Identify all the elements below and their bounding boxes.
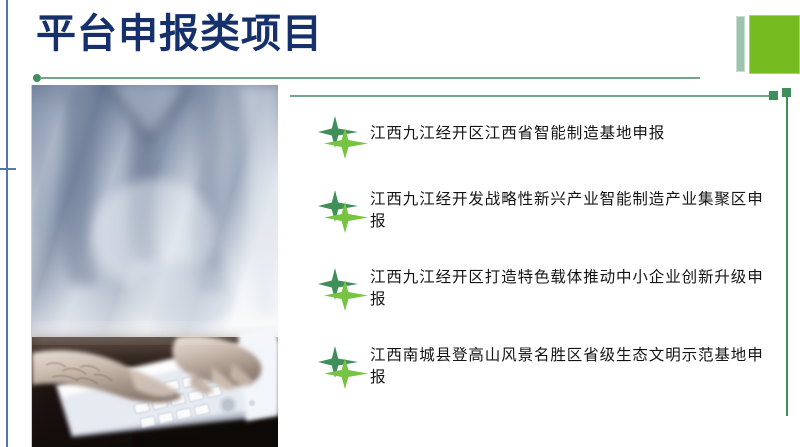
list-item-label: 江西九江经开发战略性新兴产业智能制造产业集聚区申报 bbox=[370, 186, 773, 233]
list-item[interactable]: 江西九江经开发战略性新兴产业智能制造产业集聚区申报 bbox=[318, 186, 773, 234]
bullet-list: 江西九江经开区江西省智能制造基地申报 江西九江经开发战略性新兴产业智能制造产业集… bbox=[318, 112, 773, 416]
sparkle-star-bullet-icon bbox=[318, 344, 370, 390]
green-square-accent bbox=[749, 15, 800, 74]
left-edge-rule bbox=[6, 0, 8, 447]
list-item[interactable]: 江西九江经开区打造特色载体推动中小企业创新升级申报 bbox=[318, 264, 773, 312]
laptop-typing-photo bbox=[31, 85, 278, 447]
right-vertical-descender bbox=[786, 96, 788, 416]
page-title: 平台申报类项目 bbox=[36, 14, 323, 54]
sparkle-star-bullet-icon bbox=[318, 114, 370, 160]
list-item[interactable]: 江西南城县登高山风景名胜区省级生态文明示范基地申报 bbox=[318, 342, 773, 390]
list-item-label: 江西南城县登高山风景名胜区省级生态文明示范基地申报 bbox=[370, 342, 773, 389]
sparkle-star-bullet-icon bbox=[318, 188, 370, 234]
secondary-rule-dot-icon bbox=[769, 91, 778, 100]
list-item-label: 江西九江经开区打造特色载体推动中小企业创新升级申报 bbox=[370, 264, 773, 311]
left-edge-tick bbox=[0, 168, 16, 170]
presentation-slide: 平台申报类项目 bbox=[0, 0, 800, 447]
sparkle-star-bullet-icon bbox=[318, 266, 370, 312]
title-underline-rule bbox=[40, 77, 700, 79]
secondary-rule bbox=[290, 95, 775, 97]
green-bar-accent bbox=[736, 16, 745, 72]
list-item[interactable]: 江西九江经开区江西省智能制造基地申报 bbox=[318, 112, 773, 160]
list-item-label: 江西九江经开区江西省智能制造基地申报 bbox=[370, 112, 773, 145]
